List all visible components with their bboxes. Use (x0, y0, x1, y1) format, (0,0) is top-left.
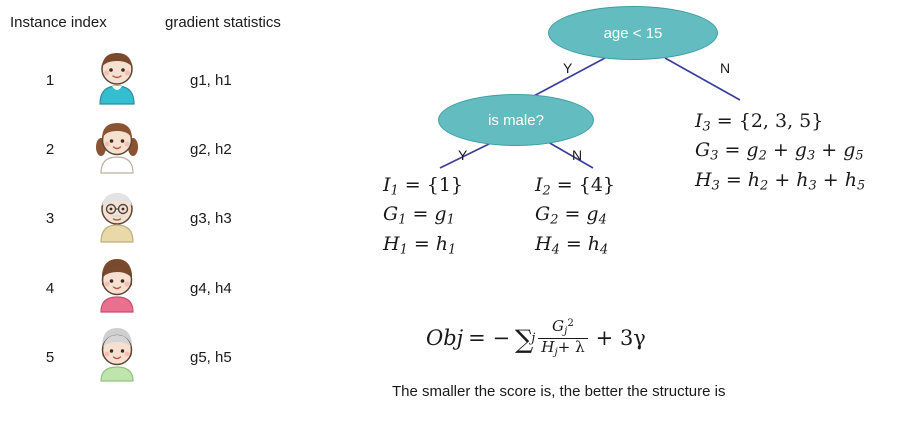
objective-fraction: Gj2 Hj+ λ (538, 318, 587, 359)
diagram-canvas: Instance index gradient statistics 1 g1,… (0, 0, 920, 421)
row-index-3: 3 (38, 210, 62, 227)
old-woman-avatar-icon (88, 325, 146, 383)
decision-tree: age < 15 is male? Y N Y N I1 = {1} G1 = … (380, 0, 920, 421)
summation-symbol: ∑ (515, 330, 533, 351)
tree-node-root[interactable]: age < 15 (548, 6, 718, 60)
row-stats-4: g4, h4 (190, 280, 232, 297)
row-index-1: 1 (38, 72, 62, 89)
leaf3-formulas: I3 = {2, 3, 5} G3 = g2 + g3 + g5 H3 = h2… (695, 108, 865, 196)
objective-lhs: Obj (426, 323, 463, 353)
leaf3-hessian-sum: H3 = h2 + h3 + h5 (695, 167, 865, 196)
leaf1-gradient-sum: G1 = g1 (383, 201, 463, 230)
gradient-statistics-header: gradient statistics (165, 14, 281, 31)
leaf1-instance-set: I1 = {1} (383, 172, 463, 201)
leaf1-hessian-sum: H1 = h1 (383, 231, 463, 260)
leaf2-instance-set: I2 = {4} (535, 172, 615, 201)
row-stats-3: g3, h3 (190, 210, 232, 227)
leaf2-formulas: I2 = {4} G2 = g4 H4 = h4 (535, 172, 615, 260)
edge-label-root-yes: Y (563, 60, 572, 76)
leaf2-gradient-sum: G2 = g4 (535, 201, 615, 230)
row-stats-5: g5, h5 (190, 349, 232, 366)
leaf3-instance-set: I3 = {2, 3, 5} (695, 108, 865, 137)
boy-avatar-icon (88, 48, 146, 106)
instance-index-header: Instance index (10, 14, 107, 31)
leaf3-gradient-sum: G3 = g2 + g3 + g5 (695, 137, 865, 166)
edge-label-male-yes: Y (458, 147, 467, 163)
row-stats-1: g1, h1 (190, 72, 232, 89)
edge-label-root-no: N (720, 60, 730, 76)
tree-node-is-male[interactable]: is male? (438, 94, 594, 146)
fraction-denominator: Hj+ λ (538, 338, 587, 359)
row-index-4: 4 (38, 280, 62, 297)
row-stats-2: g2, h2 (190, 141, 232, 158)
objective-formula: Obj = − ∑j Gj2 Hj+ λ + 3γ (426, 318, 646, 359)
objective-tail: + 3γ (596, 323, 646, 353)
diagram-caption: The smaller the score is, the better the… (392, 383, 725, 400)
edge-label-male-no: N (572, 147, 582, 163)
row-index-2: 2 (38, 141, 62, 158)
leaf2-hessian-sum: H4 = h4 (535, 231, 615, 260)
old-man-avatar-icon (88, 186, 146, 244)
woman-avatar-icon (88, 256, 146, 314)
leaf1-formulas: I1 = {1} G1 = g1 H1 = h1 (383, 172, 463, 260)
girl-avatar-icon (88, 117, 146, 175)
fraction-numerator: Gj2 (549, 318, 577, 338)
objective-equals: = − (468, 323, 510, 353)
row-index-5: 5 (38, 349, 62, 366)
